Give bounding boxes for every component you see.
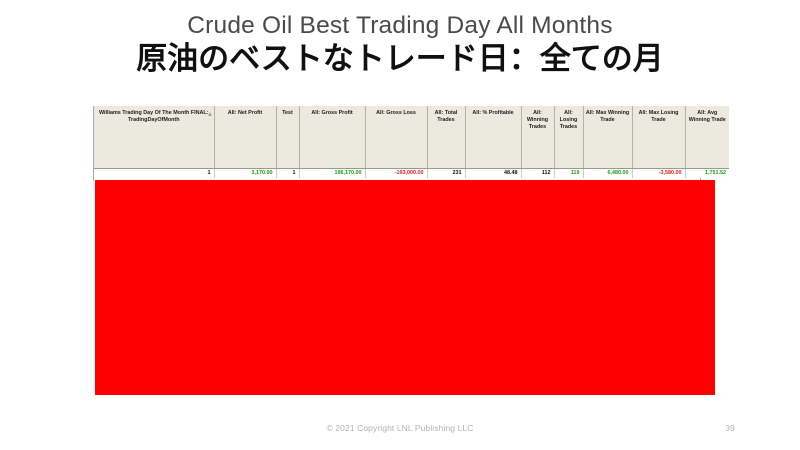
table-cell: 3,170.00: [214, 168, 276, 178]
sort-ascending-icon: [208, 112, 212, 116]
table-cell: 1: [276, 168, 299, 178]
column-header-label: All: Losing Trades: [560, 110, 578, 130]
column-header-7[interactable]: All: Winning Trades: [521, 106, 554, 168]
column-header-label: All: Total Trades: [435, 110, 458, 123]
table-cell: -193,000.00: [365, 168, 427, 178]
table-body: 13,170.001196,170.00-193,000.0023148.481…: [94, 168, 729, 178]
column-header-4[interactable]: All: Gross Loss: [365, 106, 427, 168]
table-cell: 1: [94, 168, 214, 178]
table-cell: 112: [521, 168, 554, 178]
column-header-label: All: Avg Winning Trade: [689, 110, 726, 123]
footer-copyright: © 2021 Copyright LNL Publishing LLC: [0, 423, 800, 433]
table-cell: 6,480.00: [583, 168, 632, 178]
table-cell: 196,170.00: [299, 168, 365, 178]
column-header-11[interactable]: All: Avg Winning Trade: [685, 106, 729, 168]
column-header-label: All: % Profitable: [472, 110, 513, 116]
column-header-0[interactable]: Williams Trading Day Of The Month FINAL:…: [94, 106, 214, 168]
table-cell: 1,751.52: [685, 168, 729, 178]
slide-canvas: Crude Oil Best Trading Day All Months 原油…: [0, 0, 800, 450]
column-header-6[interactable]: All: % Profitable: [465, 106, 521, 168]
column-header-label: All: Max Winning Trade: [586, 110, 629, 123]
column-header-8[interactable]: All: Losing Trades: [554, 106, 583, 168]
column-header-label: All: Gross Profit: [311, 110, 352, 116]
page-title-japanese: 原油のベストなトレード日：全ての月: [0, 40, 800, 78]
red-redaction-overlay: [95, 180, 715, 395]
results-table: Williams Trading Day Of The Month FINAL:…: [94, 106, 729, 178]
column-header-10[interactable]: All: Max Losing Trade: [632, 106, 685, 168]
column-header-5[interactable]: All: Total Trades: [427, 106, 465, 168]
column-header-label: All: Max Losing Trade: [639, 110, 679, 123]
footer-page-number: 39: [700, 423, 760, 433]
results-table-container[interactable]: Williams Trading Day Of The Month FINAL:…: [93, 106, 701, 181]
table-cell: 48.48: [465, 168, 521, 178]
column-header-1[interactable]: All: Net Profit: [214, 106, 276, 168]
table-header-row: Williams Trading Day Of The Month FINAL:…: [94, 106, 729, 168]
table-cell: 231: [427, 168, 465, 178]
table-row[interactable]: 13,170.001196,170.00-193,000.0023148.481…: [94, 168, 729, 178]
column-header-label: All: Gross Loss: [376, 110, 416, 116]
page-title-english: Crude Oil Best Trading Day All Months: [0, 11, 800, 41]
table-cell: 119: [554, 168, 583, 178]
column-header-label: Test: [282, 110, 293, 116]
column-header-3[interactable]: All: Gross Profit: [299, 106, 365, 168]
column-header-9[interactable]: All: Max Winning Trade: [583, 106, 632, 168]
column-header-label: All: Winning Trades: [527, 110, 548, 130]
column-header-2[interactable]: Test: [276, 106, 299, 168]
table-cell: -3,580.00: [632, 168, 685, 178]
column-header-label: All: Net Profit: [228, 110, 262, 116]
column-header-label: Williams Trading Day Of The Month FINAL:…: [99, 110, 209, 123]
